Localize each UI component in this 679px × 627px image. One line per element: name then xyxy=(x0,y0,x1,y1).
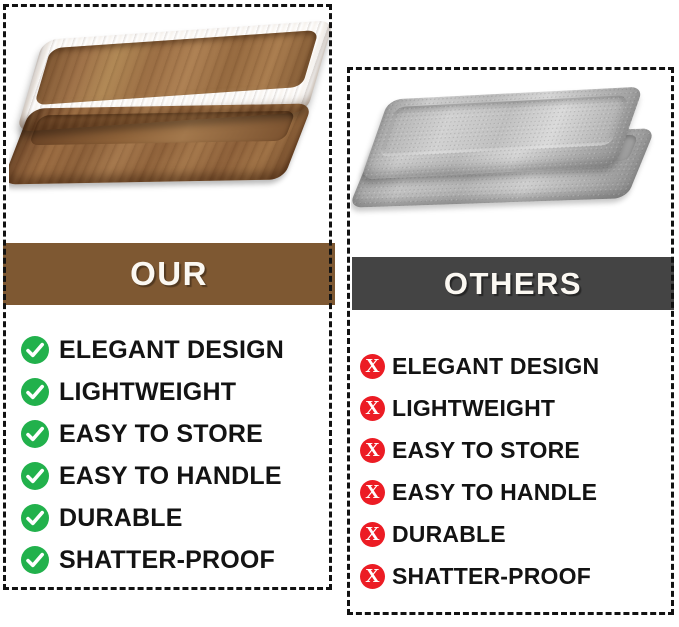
list-item: X DURABLE xyxy=(360,513,670,555)
comparison-panel-our: OUR ELEGANT DESIGN LIGHTWEIGHT xyxy=(3,4,332,590)
green-check-icon xyxy=(21,336,49,364)
red-cross-icon: X xyxy=(360,564,385,589)
feature-label: EASY TO HANDLE xyxy=(392,479,597,506)
list-item: DURABLE xyxy=(21,497,331,539)
feature-label: LIGHTWEIGHT xyxy=(392,395,555,422)
feature-list-others: X ELEGANT DESIGN X LIGHTWEIGHT X EASY TO… xyxy=(360,345,670,597)
feature-label: DURABLE xyxy=(392,521,506,548)
stone-speckle-texture xyxy=(360,87,643,180)
cross-glyph: X xyxy=(365,440,379,460)
wooden-tray-stage xyxy=(9,10,332,243)
feature-label: LIGHTWEIGHT xyxy=(59,378,236,407)
list-item: EASY TO HANDLE xyxy=(21,455,331,497)
product-image-stone-trays xyxy=(351,71,670,255)
list-item: LIGHTWEIGHT xyxy=(21,371,331,413)
feature-label: ELEGANT DESIGN xyxy=(392,353,599,380)
red-cross-icon: X xyxy=(360,522,385,547)
banner-our: OUR xyxy=(3,243,335,305)
product-image-wooden-trays xyxy=(9,10,332,243)
list-item: X LIGHTWEIGHT xyxy=(360,387,670,429)
cross-glyph: X xyxy=(365,482,379,502)
green-check-icon xyxy=(21,378,49,406)
feature-label: ELEGANT DESIGN xyxy=(59,336,284,365)
green-check-icon xyxy=(21,546,49,574)
cross-glyph: X xyxy=(365,356,379,376)
red-cross-icon: X xyxy=(360,396,385,421)
feature-label: DURABLE xyxy=(59,504,183,533)
list-item: X EASY TO STORE xyxy=(360,429,670,471)
comparison-panel-others: OTHERS X ELEGANT DESIGN X LIGHTWEIGHT X … xyxy=(347,67,674,615)
red-cross-icon: X xyxy=(360,438,385,463)
stone-tray-upper xyxy=(360,87,643,180)
list-item: EASY TO STORE xyxy=(21,413,331,455)
green-check-icon xyxy=(21,504,49,532)
feature-list-our: ELEGANT DESIGN LIGHTWEIGHT EASY TO STORE xyxy=(21,329,331,581)
feature-label: EASY TO STORE xyxy=(392,437,580,464)
cross-glyph: X xyxy=(365,398,379,418)
banner-others: OTHERS xyxy=(352,257,674,310)
red-cross-icon: X xyxy=(360,480,385,505)
list-item: X SHATTER-PROOF xyxy=(360,555,670,597)
feature-label: SHATTER-PROOF xyxy=(59,546,275,575)
cross-glyph: X xyxy=(365,524,379,544)
list-item: X ELEGANT DESIGN xyxy=(360,345,670,387)
list-item: ELEGANT DESIGN xyxy=(21,329,331,371)
list-item: SHATTER-PROOF xyxy=(21,539,331,581)
cross-glyph: X xyxy=(365,566,379,586)
red-cross-icon: X xyxy=(360,354,385,379)
feature-label: EASY TO STORE xyxy=(59,420,263,449)
stone-tray-stage xyxy=(351,71,670,255)
green-check-icon xyxy=(21,462,49,490)
feature-label: EASY TO HANDLE xyxy=(59,462,282,491)
feature-label: SHATTER-PROOF xyxy=(392,563,591,590)
list-item: X EASY TO HANDLE xyxy=(360,471,670,513)
green-check-icon xyxy=(21,420,49,448)
